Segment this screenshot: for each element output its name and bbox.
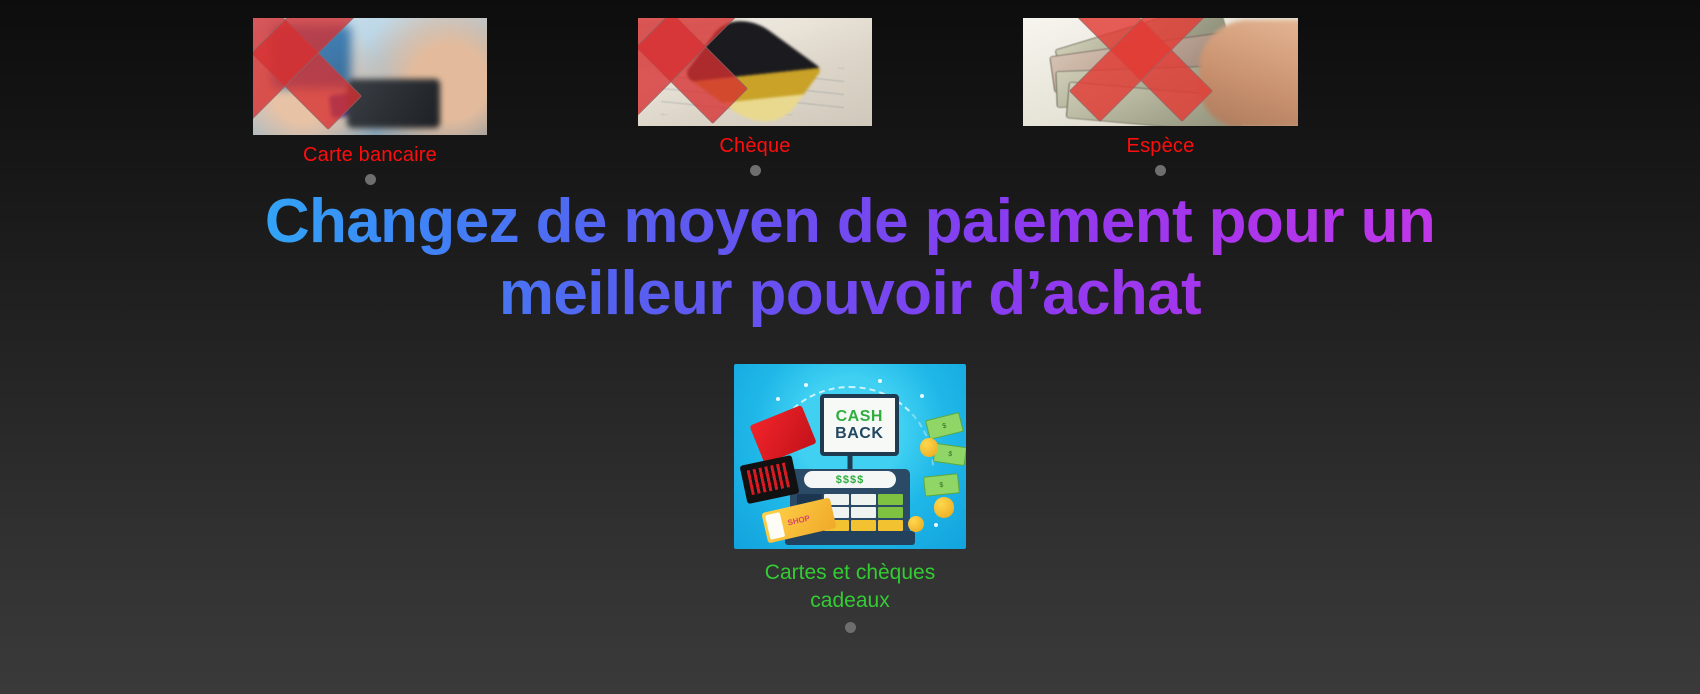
carousel-dot-cheque[interactable] (750, 165, 761, 176)
espece-label: Espèce (1023, 134, 1298, 158)
sparkle-icon (878, 379, 882, 383)
cartes-cheques-cadeaux-label: Cartes et chèques cadeaux (734, 559, 966, 615)
key (878, 507, 903, 518)
carousel-dot-cartes-cheques-cadeaux[interactable] (845, 622, 856, 633)
espece-image[interactable] (1023, 18, 1298, 126)
coin-icon (920, 438, 939, 457)
cashback-image[interactable]: CASH BACK $$$$ (734, 364, 966, 549)
cashback-illustration: CASH BACK $$$$ (734, 364, 966, 549)
card-terminal-photo (253, 18, 487, 135)
key (878, 494, 903, 505)
method-espece[interactable]: Espèce (1023, 18, 1298, 176)
carousel-dot-espece[interactable] (1155, 165, 1166, 176)
method-cheque[interactable]: Chèque (638, 18, 872, 176)
cheque-pen-photo (638, 18, 872, 126)
banknote-icon: $ (925, 412, 964, 440)
cashback-screen-line2: BACK (835, 426, 883, 442)
hand-shape (1199, 20, 1298, 126)
carte-bancaire-label: Carte bancaire (253, 143, 487, 167)
carousel-dot-carte-bancaire[interactable] (365, 174, 376, 185)
card-chip-shape (329, 86, 393, 119)
cheque-lines-shape (661, 68, 844, 116)
method-carte-bancaire[interactable]: Carte bancaire (253, 18, 487, 185)
cashback-screen-line1: CASH (836, 409, 883, 425)
key (878, 520, 903, 531)
cashback-screen: CASH BACK (820, 394, 899, 457)
cheque-image[interactable] (638, 18, 872, 126)
register-display: $$$$ (804, 471, 897, 488)
carte-bancaire-image[interactable] (253, 18, 487, 135)
rejected-methods-row: Carte bancaire Chèque (0, 0, 1700, 200)
key (851, 507, 876, 518)
cheque-label: Chèque (638, 134, 872, 158)
sparkle-icon (934, 523, 938, 527)
sparkle-icon (776, 397, 780, 401)
key (851, 520, 876, 531)
coin-icon (934, 497, 955, 517)
cash-bills-photo (1023, 18, 1298, 126)
slide-root: Carte bancaire Chèque (0, 0, 1700, 694)
sparkle-icon (804, 383, 808, 387)
sparkle-icon (920, 394, 924, 398)
banknote-icon: $ (923, 473, 960, 497)
coin-icon (908, 516, 924, 533)
key (851, 494, 876, 505)
method-cartes-cheques-cadeaux[interactable]: CASH BACK $$$$ (734, 364, 966, 633)
page-title: Changez de moyen de paiement pour un mei… (0, 186, 1700, 330)
